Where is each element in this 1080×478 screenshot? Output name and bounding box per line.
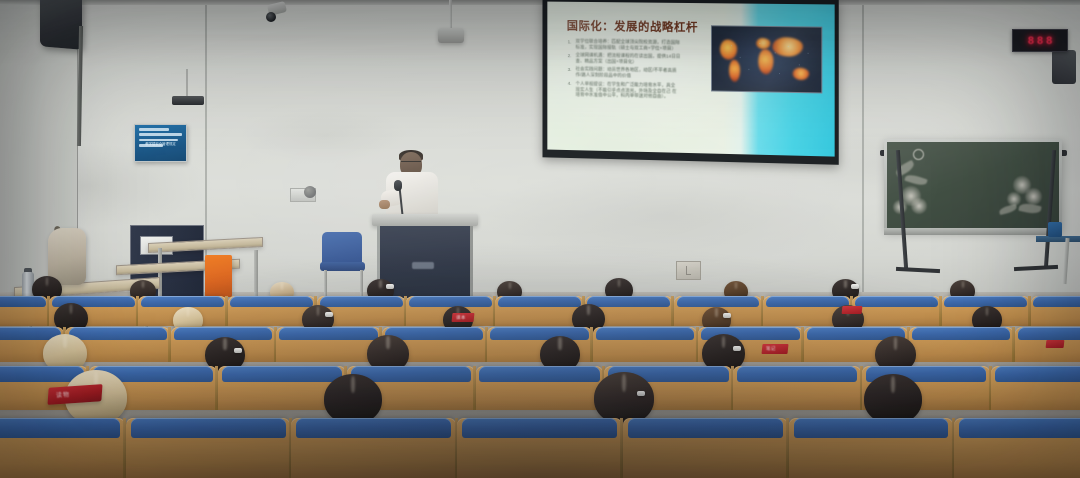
lecture-seat[interactable] <box>789 418 955 478</box>
red-book-label: 读物 <box>56 390 71 400</box>
seat-back[interactable] <box>623 418 788 478</box>
hair-part <box>622 374 627 392</box>
red-tag-label: 课本 <box>456 315 466 321</box>
lecture-seat[interactable] <box>126 418 292 478</box>
seat-cushion[interactable] <box>296 418 451 438</box>
seat-cushion[interactable] <box>131 418 286 438</box>
seat-cushion[interactable] <box>0 418 120 438</box>
audience-member-head <box>864 374 922 424</box>
seat-row <box>0 418 1080 478</box>
seat-cushion[interactable] <box>794 418 949 438</box>
seat-back[interactable] <box>789 418 954 478</box>
seat-back[interactable] <box>457 418 622 478</box>
seat-back[interactable] <box>0 418 125 478</box>
hair-part <box>351 376 356 393</box>
red-tag <box>842 306 863 314</box>
seat-cushion[interactable] <box>959 418 1080 438</box>
hair-clip <box>637 391 645 396</box>
seat-back[interactable] <box>126 418 291 478</box>
lecture-seat[interactable] <box>954 418 1080 478</box>
audience-member-head <box>324 374 382 424</box>
lecture-hall-screenshot: 8 8 8 教学楼安全管理规定 国际化：发展的战略杠杆 1. 双学位联合培养：匹… <box>0 0 1080 478</box>
red-tag-label: 笔记 <box>766 346 776 352</box>
seat-cushion[interactable] <box>462 418 617 438</box>
lecture-seat[interactable] <box>623 418 789 478</box>
lecture-seat[interactable] <box>291 418 457 478</box>
red-tag <box>1046 340 1065 348</box>
audience-member-head <box>594 372 654 424</box>
lecture-seat[interactable] <box>0 418 126 478</box>
lecture-seat[interactable] <box>457 418 623 478</box>
seat-back[interactable] <box>954 418 1080 478</box>
seat-back[interactable] <box>291 418 456 478</box>
seat-cushion[interactable] <box>628 418 783 438</box>
audience-row-heads <box>0 0 1080 478</box>
hair-part <box>891 376 896 393</box>
